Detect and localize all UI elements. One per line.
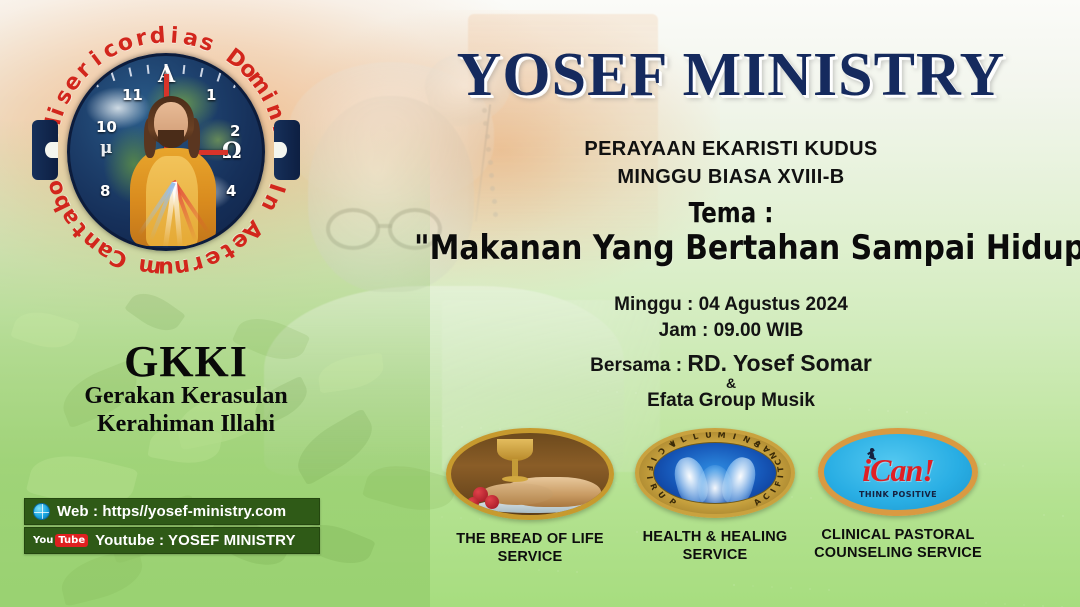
event-date: Minggu : 04 Agustus 2024 xyxy=(408,294,1054,316)
youtube-icon: You Tube xyxy=(33,534,88,547)
badge-ring-letter: C xyxy=(761,492,772,502)
service-label-counseling-line1: CLINICAL PASTORAL xyxy=(800,527,996,545)
service-label-healing-line2: SERVICE xyxy=(622,547,808,565)
badge-ring-letter: I xyxy=(732,432,738,441)
speckle-dot xyxy=(1003,464,1005,466)
theme-text: "Makanan Yang Bertahan Sampai Hidup Keka… xyxy=(414,228,1030,268)
page-title: YOSEF MINISTRY xyxy=(408,40,1054,111)
badge-ring-letter: I xyxy=(776,475,785,479)
speckle-dot xyxy=(1022,465,1024,467)
speckle-dot xyxy=(809,588,811,590)
theme-label: Tema : xyxy=(466,196,996,229)
logo-clock-dial: 1245781011 A Ω μ ψ xyxy=(67,53,265,251)
speaker-line: Bersama : RD. Yosef Somar xyxy=(408,350,1054,377)
speckle-dot xyxy=(557,570,559,572)
speckle-dot xyxy=(925,412,927,414)
service-label-bread-line2: SERVICE xyxy=(432,549,628,567)
youtube-icon-you: You xyxy=(33,535,53,546)
speckle-dot xyxy=(500,567,502,569)
org-acronym: GKKI xyxy=(12,336,360,387)
speckle-dot xyxy=(752,585,754,587)
service-label-healing-line1: HEALTH & HEALING xyxy=(622,529,808,547)
speckle-dot xyxy=(1023,604,1025,606)
clock-hour-8: 8 xyxy=(100,182,110,200)
youtube-bar[interactable]: You Tube Youtube : YOSEF MINISTRY xyxy=(24,527,320,554)
badge-ring-letter: I xyxy=(769,487,778,494)
speckle-dot xyxy=(1004,603,1006,605)
speckle-dot xyxy=(442,425,444,427)
service-label-bread: THE BREAD OF LIFE SERVICE xyxy=(432,531,628,566)
org-name-line-2: Kerahiman Illahi xyxy=(12,410,360,438)
badge-ring-letter: N xyxy=(741,434,751,445)
badge-ring-letter: T xyxy=(776,466,785,472)
youtube-icon-tube: Tube xyxy=(55,534,88,547)
health-healing-badge-icon: ILLUMINASANCTIFICAPURIFICA xyxy=(635,428,795,518)
speckle-dot xyxy=(828,589,830,591)
speckle-dot xyxy=(1062,515,1064,517)
service-health-healing[interactable]: ILLUMINASANCTIFICAPURIFICA HEALTH & HEAL… xyxy=(622,428,808,564)
website-label: Web : https//yosef-ministry.com xyxy=(57,503,286,520)
speckle-dot xyxy=(1043,514,1045,516)
service-label-healing: HEALTH & HEALING SERVICE xyxy=(622,529,808,564)
foliage-leaf xyxy=(124,284,185,340)
ican-badge-icon: iCan! THINK POSITIVE xyxy=(818,428,978,516)
logo-clip-left xyxy=(32,120,58,180)
speckle-dot xyxy=(771,586,773,588)
subtitle-line-2: MINGGU BIASA XVIII-B xyxy=(408,166,1054,189)
ministry-logo: Misericordias Domini In Aeternum Cantabo… xyxy=(34,20,298,284)
clock-hour-10: 10 xyxy=(96,118,117,136)
ican-badge-text: iCan! xyxy=(824,452,972,489)
badge-ring-letter: S xyxy=(752,439,762,450)
speckle-dot xyxy=(538,569,540,571)
speckle-dot xyxy=(576,571,578,573)
ican-badge-subtext: THINK POSITIVE xyxy=(824,490,972,499)
ampersand-separator: & xyxy=(408,375,1054,391)
speaker-prefix-label: Bersama : xyxy=(590,355,687,376)
logo-ring-letter: n xyxy=(173,253,192,280)
background-foliage-texture xyxy=(0,277,470,607)
badge-ring-letter: U xyxy=(705,430,712,440)
music-group-name: Efata Group Musik xyxy=(408,390,1054,412)
badge-ring-letter: A xyxy=(752,497,763,508)
poster-canvas: Misericordias Domini In Aeternum Cantabo… xyxy=(0,0,1080,607)
badge-ring-letter: M xyxy=(717,430,726,440)
service-clinical-pastoral[interactable]: iCan! THINK POSITIVE CLINICAL PASTORAL C… xyxy=(800,428,996,562)
speckle-dot xyxy=(790,587,792,589)
greek-mu-symbol: μ xyxy=(100,138,112,158)
event-time: Jam : 09.00 WIB xyxy=(408,320,1054,342)
subtitle-line-1: PERAYAAN EKARISTI KUDUS xyxy=(408,138,1054,161)
speckle-dot xyxy=(733,584,735,586)
logo-ring-letter: m xyxy=(137,253,163,281)
badge-ring-letter: P xyxy=(667,497,677,508)
service-label-counseling: CLINICAL PASTORAL COUNSELING SERVICE xyxy=(800,527,996,562)
logo-clip-right xyxy=(274,120,300,180)
foliage-leaf xyxy=(56,547,147,606)
speckle-dot xyxy=(519,568,521,570)
speaker-name: RD. Yosef Somar xyxy=(687,350,871,376)
org-full-name: Gerakan Kerasulan Kerahiman Illahi xyxy=(12,382,360,439)
service-label-counseling-line2: COUNSELING SERVICE xyxy=(800,545,996,563)
service-bread-of-life[interactable]: THE BREAD OF LIFE SERVICE xyxy=(432,428,628,566)
rosary-bead xyxy=(483,121,488,126)
youtube-label: Youtube : YOSEF MINISTRY xyxy=(95,532,295,549)
globe-icon xyxy=(33,503,50,520)
speckle-dot xyxy=(985,602,987,604)
divine-mercy-figure xyxy=(124,96,220,246)
service-label-bread-line1: THE BREAD OF LIFE xyxy=(432,531,628,549)
org-name-line-1: Gerakan Kerasulan xyxy=(12,382,360,410)
badge-ring-letter: L xyxy=(692,432,700,442)
clock-hour-4: 4 xyxy=(226,182,236,200)
website-bar[interactable]: Web : https//yosef-ministry.com xyxy=(24,498,320,525)
badge-ring-letter: L xyxy=(679,434,688,444)
bread-of-life-badge-icon xyxy=(446,428,614,520)
